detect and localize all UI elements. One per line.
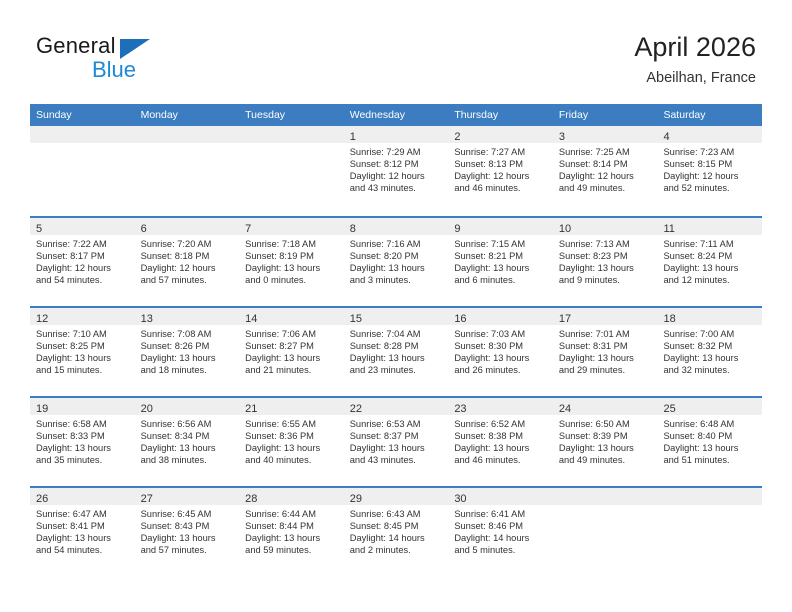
day-sun-info: Sunrise: 7:16 AMSunset: 8:20 PMDaylight:… (344, 235, 449, 286)
day-cell[interactable]: 1Sunrise: 7:29 AMSunset: 8:12 PMDaylight… (344, 126, 449, 216)
day-sun-info: Sunrise: 6:55 AMSunset: 8:36 PMDaylight:… (239, 415, 344, 466)
calendar-grid: Sunday Monday Tuesday Wednesday Thursday… (30, 104, 762, 576)
day-number: 5 (36, 223, 42, 235)
daylight-text-line1: Daylight: 13 hours (141, 532, 234, 544)
weekday-header-row: Sunday Monday Tuesday Wednesday Thursday… (30, 104, 762, 126)
sunrise-text: Sunrise: 6:41 AM (454, 508, 547, 520)
daylight-text-line1: Daylight: 12 hours (559, 170, 652, 182)
sunset-text: Sunset: 8:25 PM (36, 340, 129, 352)
sunset-text: Sunset: 8:23 PM (559, 250, 652, 262)
day-sun-info: Sunrise: 6:47 AMSunset: 8:41 PMDaylight:… (30, 505, 135, 556)
sunset-text: Sunset: 8:31 PM (559, 340, 652, 352)
weekday-header-friday: Friday (553, 104, 658, 126)
calendar-page: General Blue April 2026 Abeilhan, France… (0, 0, 792, 612)
week-row: 1Sunrise: 7:29 AMSunset: 8:12 PMDaylight… (30, 126, 762, 216)
daylight-text-line1: Daylight: 13 hours (245, 352, 338, 364)
day-cell[interactable]: 22Sunrise: 6:53 AMSunset: 8:37 PMDayligh… (344, 398, 449, 486)
day-number: 16 (454, 313, 466, 325)
weekday-header-thursday: Thursday (448, 104, 553, 126)
day-sun-info: Sunrise: 7:27 AMSunset: 8:13 PMDaylight:… (448, 143, 553, 194)
day-sun-info: Sunrise: 6:56 AMSunset: 8:34 PMDaylight:… (135, 415, 240, 466)
sunset-text: Sunset: 8:36 PM (245, 430, 338, 442)
day-sun-info (30, 143, 135, 146)
sunset-text: Sunset: 8:18 PM (141, 250, 234, 262)
day-cell[interactable]: 7Sunrise: 7:18 AMSunset: 8:19 PMDaylight… (239, 218, 344, 306)
sunset-text: Sunset: 8:33 PM (36, 430, 129, 442)
day-number: 9 (454, 223, 460, 235)
sunrise-text: Sunrise: 6:52 AM (454, 418, 547, 430)
sunset-text: Sunset: 8:13 PM (454, 158, 547, 170)
daylight-text-line1: Daylight: 13 hours (350, 262, 443, 274)
weekday-header-tuesday: Tuesday (239, 104, 344, 126)
daylight-text-line2: and 18 minutes. (141, 364, 234, 376)
sunrise-text: Sunrise: 6:48 AM (663, 418, 756, 430)
day-cell[interactable]: 10Sunrise: 7:13 AMSunset: 8:23 PMDayligh… (553, 218, 658, 306)
day-sun-info: Sunrise: 6:44 AMSunset: 8:44 PMDaylight:… (239, 505, 344, 556)
sunset-text: Sunset: 8:39 PM (559, 430, 652, 442)
day-sun-info: Sunrise: 6:50 AMSunset: 8:39 PMDaylight:… (553, 415, 658, 466)
day-number-band: 8 (344, 218, 449, 235)
day-cell-empty (553, 488, 658, 576)
daylight-text-line2: and 29 minutes. (559, 364, 652, 376)
day-sun-info: Sunrise: 6:53 AMSunset: 8:37 PMDaylight:… (344, 415, 449, 466)
daylight-text-line2: and 12 minutes. (663, 274, 756, 286)
day-number: 30 (454, 493, 466, 505)
day-number-band: 15 (344, 308, 449, 325)
daylight-text-line1: Daylight: 14 hours (350, 532, 443, 544)
sunrise-text: Sunrise: 6:45 AM (141, 508, 234, 520)
day-sun-info: Sunrise: 7:22 AMSunset: 8:17 PMDaylight:… (30, 235, 135, 286)
day-number: 1 (350, 131, 356, 143)
day-number-band: 7 (239, 218, 344, 235)
daylight-text-line2: and 43 minutes. (350, 182, 443, 194)
sunset-text: Sunset: 8:32 PM (663, 340, 756, 352)
daylight-text-line2: and 23 minutes. (350, 364, 443, 376)
weeks-container: 1Sunrise: 7:29 AMSunset: 8:12 PMDaylight… (30, 126, 762, 576)
daylight-text-line1: Daylight: 13 hours (663, 352, 756, 364)
day-cell[interactable]: 12Sunrise: 7:10 AMSunset: 8:25 PMDayligh… (30, 308, 135, 396)
day-number: 4 (663, 131, 669, 143)
daylight-text-line1: Daylight: 12 hours (454, 170, 547, 182)
daylight-text-line1: Daylight: 13 hours (141, 442, 234, 454)
day-number-band: 17 (553, 308, 658, 325)
day-cell[interactable]: 16Sunrise: 7:03 AMSunset: 8:30 PMDayligh… (448, 308, 553, 396)
sunset-text: Sunset: 8:34 PM (141, 430, 234, 442)
day-number-band: 12 (30, 308, 135, 325)
day-number-band: 10 (553, 218, 658, 235)
day-cell[interactable]: 4Sunrise: 7:23 AMSunset: 8:15 PMDaylight… (657, 126, 762, 216)
day-number-band: 22 (344, 398, 449, 415)
sunset-text: Sunset: 8:44 PM (245, 520, 338, 532)
page-header: General Blue April 2026 Abeilhan, France (0, 0, 792, 104)
day-number: 29 (350, 493, 362, 505)
sunrise-text: Sunrise: 7:04 AM (350, 328, 443, 340)
daylight-text-line1: Daylight: 13 hours (36, 352, 129, 364)
day-cell[interactable]: 9Sunrise: 7:15 AMSunset: 8:21 PMDaylight… (448, 218, 553, 306)
daylight-text-line1: Daylight: 14 hours (454, 532, 547, 544)
day-number: 2 (454, 131, 460, 143)
sunset-text: Sunset: 8:46 PM (454, 520, 547, 532)
day-number-band: 27 (135, 488, 240, 505)
daylight-text-line2: and 38 minutes. (141, 454, 234, 466)
day-number-band: 14 (239, 308, 344, 325)
daylight-text-line2: and 46 minutes. (454, 182, 547, 194)
daylight-text-line2: and 32 minutes. (663, 364, 756, 376)
sunrise-text: Sunrise: 6:53 AM (350, 418, 443, 430)
blue-triangle-flag-icon (120, 39, 150, 59)
daylight-text-line1: Daylight: 13 hours (559, 352, 652, 364)
day-number-band: 13 (135, 308, 240, 325)
week-row: 12Sunrise: 7:10 AMSunset: 8:25 PMDayligh… (30, 306, 762, 396)
day-sun-info: Sunrise: 7:03 AMSunset: 8:30 PMDaylight:… (448, 325, 553, 376)
day-cell[interactable]: 13Sunrise: 7:08 AMSunset: 8:26 PMDayligh… (135, 308, 240, 396)
day-cell[interactable]: 30Sunrise: 6:41 AMSunset: 8:46 PMDayligh… (448, 488, 553, 576)
daylight-text-line1: Daylight: 13 hours (245, 442, 338, 454)
day-sun-info: Sunrise: 7:00 AMSunset: 8:32 PMDaylight:… (657, 325, 762, 376)
day-cell[interactable]: 11Sunrise: 7:11 AMSunset: 8:24 PMDayligh… (657, 218, 762, 306)
day-sun-info: Sunrise: 7:04 AMSunset: 8:28 PMDaylight:… (344, 325, 449, 376)
daylight-text-line1: Daylight: 12 hours (350, 170, 443, 182)
sunrise-text: Sunrise: 7:22 AM (36, 238, 129, 250)
sunrise-text: Sunrise: 7:10 AM (36, 328, 129, 340)
daylight-text-line1: Daylight: 12 hours (663, 170, 756, 182)
daylight-text-line2: and 51 minutes. (663, 454, 756, 466)
day-sun-info: Sunrise: 7:29 AMSunset: 8:12 PMDaylight:… (344, 143, 449, 194)
day-number: 8 (350, 223, 356, 235)
daylight-text-line2: and 57 minutes. (141, 544, 234, 556)
sunrise-text: Sunrise: 7:16 AM (350, 238, 443, 250)
day-number: 19 (36, 403, 48, 415)
day-sun-info (553, 505, 658, 508)
day-number-band (553, 488, 658, 505)
day-sun-info: Sunrise: 7:15 AMSunset: 8:21 PMDaylight:… (448, 235, 553, 286)
sunset-text: Sunset: 8:38 PM (454, 430, 547, 442)
day-number: 14 (245, 313, 257, 325)
sunset-text: Sunset: 8:27 PM (245, 340, 338, 352)
daylight-text-line2: and 3 minutes. (350, 274, 443, 286)
daylight-text-line1: Daylight: 13 hours (663, 442, 756, 454)
day-number: 18 (663, 313, 675, 325)
daylight-text-line2: and 59 minutes. (245, 544, 338, 556)
daylight-text-line2: and 2 minutes. (350, 544, 443, 556)
daylight-text-line1: Daylight: 12 hours (141, 262, 234, 274)
day-number-band (135, 126, 240, 143)
day-cell-empty (239, 126, 344, 216)
day-cell[interactable]: 18Sunrise: 7:00 AMSunset: 8:32 PMDayligh… (657, 308, 762, 396)
page-subtitle-location: Abeilhan, France (634, 69, 756, 87)
daylight-text-line2: and 49 minutes. (559, 182, 652, 194)
sunset-text: Sunset: 8:43 PM (141, 520, 234, 532)
day-number-band: 23 (448, 398, 553, 415)
day-cell[interactable]: 19Sunrise: 6:58 AMSunset: 8:33 PMDayligh… (30, 398, 135, 486)
day-cell[interactable]: 27Sunrise: 6:45 AMSunset: 8:43 PMDayligh… (135, 488, 240, 576)
day-number-band: 19 (30, 398, 135, 415)
day-number-band: 6 (135, 218, 240, 235)
daylight-text-line1: Daylight: 13 hours (141, 352, 234, 364)
sunrise-text: Sunrise: 7:06 AM (245, 328, 338, 340)
daylight-text-line2: and 54 minutes. (36, 274, 129, 286)
day-number: 13 (141, 313, 153, 325)
brand-name-blue: Blue (92, 57, 136, 83)
daylight-text-line1: Daylight: 13 hours (454, 442, 547, 454)
sunset-text: Sunset: 8:12 PM (350, 158, 443, 170)
day-cell[interactable]: 29Sunrise: 6:43 AMSunset: 8:45 PMDayligh… (344, 488, 449, 576)
day-number-band: 18 (657, 308, 762, 325)
sunset-text: Sunset: 8:40 PM (663, 430, 756, 442)
daylight-text-line2: and 54 minutes. (36, 544, 129, 556)
day-sun-info: Sunrise: 7:10 AMSunset: 8:25 PMDaylight:… (30, 325, 135, 376)
day-sun-info (135, 143, 240, 146)
daylight-text-line2: and 46 minutes. (454, 454, 547, 466)
sunrise-text: Sunrise: 6:44 AM (245, 508, 338, 520)
daylight-text-line1: Daylight: 12 hours (36, 262, 129, 274)
page-title: April 2026 (634, 30, 756, 64)
day-sun-info: Sunrise: 7:23 AMSunset: 8:15 PMDaylight:… (657, 143, 762, 194)
day-cell[interactable]: 23Sunrise: 6:52 AMSunset: 8:38 PMDayligh… (448, 398, 553, 486)
day-number-band: 26 (30, 488, 135, 505)
sunrise-text: Sunrise: 7:20 AM (141, 238, 234, 250)
daylight-text-line2: and 15 minutes. (36, 364, 129, 376)
weekday-header-sunday: Sunday (30, 104, 135, 126)
day-sun-info (657, 505, 762, 508)
day-cell[interactable]: 25Sunrise: 6:48 AMSunset: 8:40 PMDayligh… (657, 398, 762, 486)
weekday-header-wednesday: Wednesday (344, 104, 449, 126)
day-number-band (30, 126, 135, 143)
day-sun-info: Sunrise: 6:48 AMSunset: 8:40 PMDaylight:… (657, 415, 762, 466)
daylight-text-line1: Daylight: 13 hours (559, 442, 652, 454)
daylight-text-line2: and 49 minutes. (559, 454, 652, 466)
daylight-text-line1: Daylight: 13 hours (663, 262, 756, 274)
brand-logo[interactable]: General Blue (36, 33, 266, 83)
sunrise-text: Sunrise: 6:43 AM (350, 508, 443, 520)
day-number-band: 24 (553, 398, 658, 415)
day-number: 22 (350, 403, 362, 415)
daylight-text-line1: Daylight: 13 hours (36, 442, 129, 454)
day-number: 26 (36, 493, 48, 505)
day-number: 15 (350, 313, 362, 325)
title-block: April 2026 Abeilhan, France (634, 30, 756, 87)
day-number: 25 (663, 403, 675, 415)
sunset-text: Sunset: 8:45 PM (350, 520, 443, 532)
daylight-text-line1: Daylight: 13 hours (350, 352, 443, 364)
day-cell-empty (30, 126, 135, 216)
sunset-text: Sunset: 8:28 PM (350, 340, 443, 352)
day-number: 10 (559, 223, 571, 235)
sunset-text: Sunset: 8:37 PM (350, 430, 443, 442)
day-number: 17 (559, 313, 571, 325)
day-sun-info: Sunrise: 6:52 AMSunset: 8:38 PMDaylight:… (448, 415, 553, 466)
day-cell-empty (657, 488, 762, 576)
day-number: 7 (245, 223, 251, 235)
day-number-band (239, 126, 344, 143)
sunrise-text: Sunrise: 7:27 AM (454, 146, 547, 158)
day-sun-info: Sunrise: 6:58 AMSunset: 8:33 PMDaylight:… (30, 415, 135, 466)
weekday-header-monday: Monday (135, 104, 240, 126)
day-number-band: 11 (657, 218, 762, 235)
day-cell[interactable]: 21Sunrise: 6:55 AMSunset: 8:36 PMDayligh… (239, 398, 344, 486)
sunset-text: Sunset: 8:19 PM (245, 250, 338, 262)
day-cell[interactable]: 3Sunrise: 7:25 AMSunset: 8:14 PMDaylight… (553, 126, 658, 216)
sunset-text: Sunset: 8:20 PM (350, 250, 443, 262)
day-number-band: 16 (448, 308, 553, 325)
day-number-band: 2 (448, 126, 553, 143)
daylight-text-line2: and 9 minutes. (559, 274, 652, 286)
day-number-band: 25 (657, 398, 762, 415)
day-number-band: 1 (344, 126, 449, 143)
sunrise-text: Sunrise: 7:03 AM (454, 328, 547, 340)
sunset-text: Sunset: 8:14 PM (559, 158, 652, 170)
sunrise-text: Sunrise: 6:55 AM (245, 418, 338, 430)
daylight-text-line1: Daylight: 13 hours (559, 262, 652, 274)
day-number-band: 29 (344, 488, 449, 505)
day-cell[interactable]: 17Sunrise: 7:01 AMSunset: 8:31 PMDayligh… (553, 308, 658, 396)
daylight-text-line1: Daylight: 13 hours (454, 262, 547, 274)
day-cell[interactable]: 26Sunrise: 6:47 AMSunset: 8:41 PMDayligh… (30, 488, 135, 576)
brand-name-general: General (36, 33, 116, 59)
day-cell[interactable]: 28Sunrise: 6:44 AMSunset: 8:44 PMDayligh… (239, 488, 344, 576)
daylight-text-line2: and 52 minutes. (663, 182, 756, 194)
day-sun-info: Sunrise: 7:20 AMSunset: 8:18 PMDaylight:… (135, 235, 240, 286)
daylight-text-line2: and 6 minutes. (454, 274, 547, 286)
day-number-band: 20 (135, 398, 240, 415)
day-sun-info: Sunrise: 7:11 AMSunset: 8:24 PMDaylight:… (657, 235, 762, 286)
day-number: 23 (454, 403, 466, 415)
day-cell[interactable]: 15Sunrise: 7:04 AMSunset: 8:28 PMDayligh… (344, 308, 449, 396)
day-number: 20 (141, 403, 153, 415)
week-row: 26Sunrise: 6:47 AMSunset: 8:41 PMDayligh… (30, 486, 762, 576)
day-cell[interactable]: 5Sunrise: 7:22 AMSunset: 8:17 PMDaylight… (30, 218, 135, 306)
day-sun-info: Sunrise: 7:01 AMSunset: 8:31 PMDaylight:… (553, 325, 658, 376)
day-number: 12 (36, 313, 48, 325)
week-row: 5Sunrise: 7:22 AMSunset: 8:17 PMDaylight… (30, 216, 762, 306)
sunset-text: Sunset: 8:21 PM (454, 250, 547, 262)
day-cell[interactable]: 8Sunrise: 7:16 AMSunset: 8:20 PMDaylight… (344, 218, 449, 306)
sunset-text: Sunset: 8:15 PM (663, 158, 756, 170)
day-number: 11 (663, 223, 674, 235)
day-sun-info (239, 143, 344, 146)
daylight-text-line2: and 43 minutes. (350, 454, 443, 466)
day-number-band: 30 (448, 488, 553, 505)
day-number-band: 21 (239, 398, 344, 415)
sunrise-text: Sunrise: 7:23 AM (663, 146, 756, 158)
day-sun-info: Sunrise: 7:25 AMSunset: 8:14 PMDaylight:… (553, 143, 658, 194)
daylight-text-line1: Daylight: 13 hours (245, 262, 338, 274)
sunset-text: Sunset: 8:26 PM (141, 340, 234, 352)
day-number-band: 28 (239, 488, 344, 505)
daylight-text-line2: and 35 minutes. (36, 454, 129, 466)
day-sun-info: Sunrise: 6:43 AMSunset: 8:45 PMDaylight:… (344, 505, 449, 556)
day-cell[interactable]: 6Sunrise: 7:20 AMSunset: 8:18 PMDaylight… (135, 218, 240, 306)
week-row: 19Sunrise: 6:58 AMSunset: 8:33 PMDayligh… (30, 396, 762, 486)
sunrise-text: Sunrise: 7:29 AM (350, 146, 443, 158)
daylight-text-line2: and 0 minutes. (245, 274, 338, 286)
sunrise-text: Sunrise: 7:13 AM (559, 238, 652, 250)
daylight-text-line1: Daylight: 13 hours (454, 352, 547, 364)
sunrise-text: Sunrise: 7:11 AM (663, 238, 756, 250)
day-number-band (657, 488, 762, 505)
daylight-text-line2: and 40 minutes. (245, 454, 338, 466)
sunset-text: Sunset: 8:30 PM (454, 340, 547, 352)
daylight-text-line1: Daylight: 13 hours (36, 532, 129, 544)
day-number-band: 3 (553, 126, 658, 143)
daylight-text-line2: and 21 minutes. (245, 364, 338, 376)
day-number: 21 (245, 403, 257, 415)
sunrise-text: Sunrise: 6:47 AM (36, 508, 129, 520)
sunrise-text: Sunrise: 7:01 AM (559, 328, 652, 340)
sunset-text: Sunset: 8:17 PM (36, 250, 129, 262)
sunrise-text: Sunrise: 7:00 AM (663, 328, 756, 340)
sunset-text: Sunset: 8:41 PM (36, 520, 129, 532)
day-cell[interactable]: 24Sunrise: 6:50 AMSunset: 8:39 PMDayligh… (553, 398, 658, 486)
daylight-text-line2: and 26 minutes. (454, 364, 547, 376)
day-sun-info: Sunrise: 7:08 AMSunset: 8:26 PMDaylight:… (135, 325, 240, 376)
day-cell-empty (135, 126, 240, 216)
daylight-text-line1: Daylight: 13 hours (350, 442, 443, 454)
sunrise-text: Sunrise: 6:56 AM (141, 418, 234, 430)
day-sun-info: Sunrise: 7:06 AMSunset: 8:27 PMDaylight:… (239, 325, 344, 376)
sunrise-text: Sunrise: 7:08 AM (141, 328, 234, 340)
daylight-text-line2: and 57 minutes. (141, 274, 234, 286)
sunrise-text: Sunrise: 6:58 AM (36, 418, 129, 430)
sunrise-text: Sunrise: 7:15 AM (454, 238, 547, 250)
daylight-text-line2: and 5 minutes. (454, 544, 547, 556)
day-sun-info: Sunrise: 7:13 AMSunset: 8:23 PMDaylight:… (553, 235, 658, 286)
day-number: 28 (245, 493, 257, 505)
sunrise-text: Sunrise: 6:50 AM (559, 418, 652, 430)
weekday-header-saturday: Saturday (657, 104, 762, 126)
day-sun-info: Sunrise: 6:41 AMSunset: 8:46 PMDaylight:… (448, 505, 553, 556)
sunrise-text: Sunrise: 7:18 AM (245, 238, 338, 250)
day-cell[interactable]: 20Sunrise: 6:56 AMSunset: 8:34 PMDayligh… (135, 398, 240, 486)
day-number: 3 (559, 131, 565, 143)
day-cell[interactable]: 14Sunrise: 7:06 AMSunset: 8:27 PMDayligh… (239, 308, 344, 396)
day-number: 6 (141, 223, 147, 235)
sunrise-text: Sunrise: 7:25 AM (559, 146, 652, 158)
daylight-text-line1: Daylight: 13 hours (245, 532, 338, 544)
day-cell[interactable]: 2Sunrise: 7:27 AMSunset: 8:13 PMDaylight… (448, 126, 553, 216)
day-number: 27 (141, 493, 153, 505)
day-number-band: 4 (657, 126, 762, 143)
day-number: 24 (559, 403, 571, 415)
day-number-band: 9 (448, 218, 553, 235)
day-number-band: 5 (30, 218, 135, 235)
day-sun-info: Sunrise: 7:18 AMSunset: 8:19 PMDaylight:… (239, 235, 344, 286)
sunset-text: Sunset: 8:24 PM (663, 250, 756, 262)
day-sun-info: Sunrise: 6:45 AMSunset: 8:43 PMDaylight:… (135, 505, 240, 556)
